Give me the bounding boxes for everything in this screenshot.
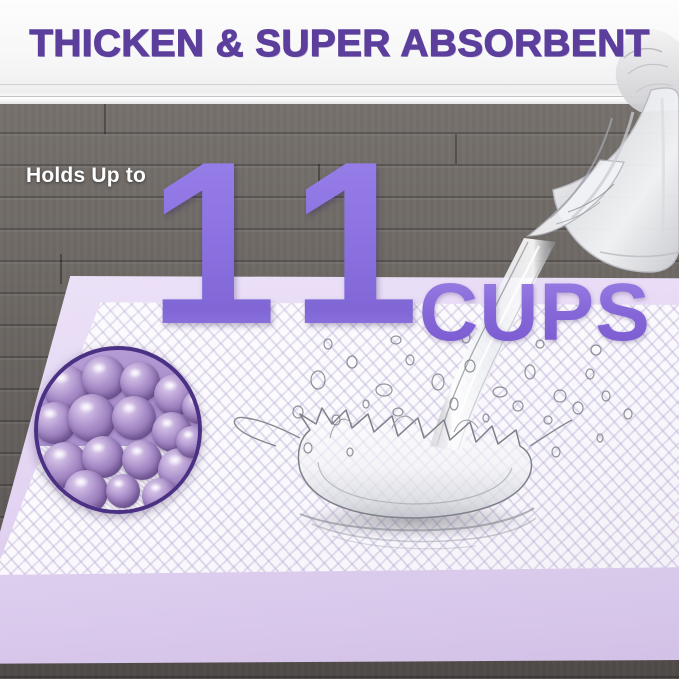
- product-marketing-image: THICKEN & SUPER ABSORBENT Holds Up to 11…: [0, 0, 679, 679]
- bead-icon: [176, 426, 202, 458]
- bead-icon: [112, 396, 156, 440]
- kicker-label: Holds Up to: [26, 164, 146, 188]
- plank-joint: [60, 254, 62, 284]
- plank-joint: [104, 104, 106, 134]
- plank-joint: [560, 196, 562, 226]
- bead-icon: [106, 474, 140, 508]
- plank-joint: [455, 134, 457, 164]
- capacity-unit-label: CUPS: [419, 272, 651, 354]
- bead-icon: [142, 478, 178, 514]
- wall-seam-upper: [0, 84, 679, 85]
- capacity-number: 11: [148, 128, 445, 360]
- bead-icon: [64, 470, 108, 514]
- bead-icon: [68, 394, 116, 442]
- page-title: THICKEN & SUPER ABSORBENT: [0, 23, 679, 66]
